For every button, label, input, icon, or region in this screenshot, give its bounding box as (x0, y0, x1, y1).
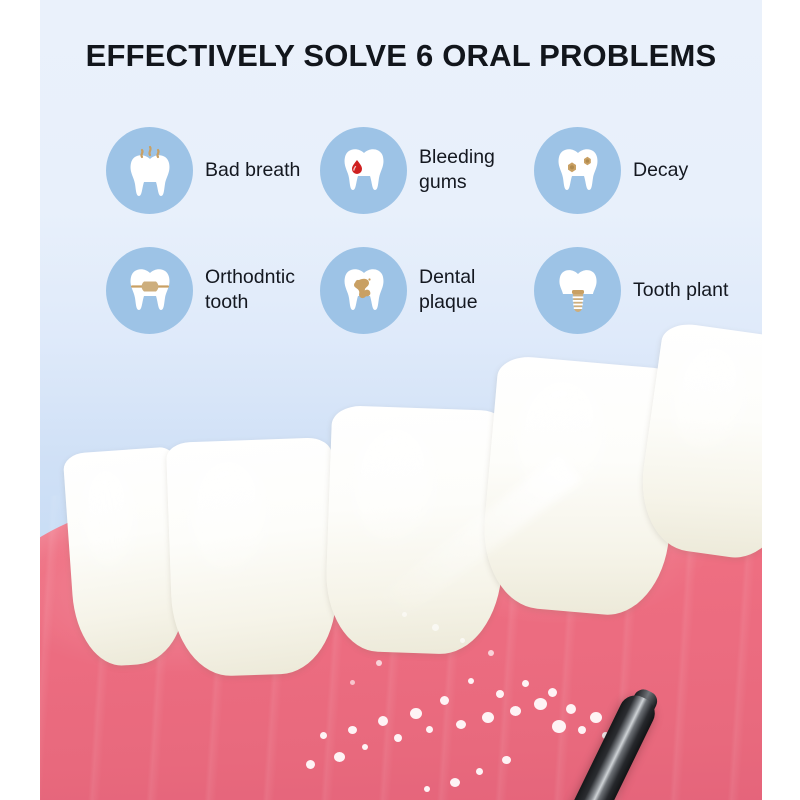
feature-label: Bleeding gums (419, 145, 531, 195)
water-flosser-teeth-gums-photo (40, 300, 762, 800)
feature-item-bad-breath: Bad breath (106, 110, 320, 230)
product-infographic: EFFECTIVELY SOLVE 6 ORAL PROBLEMS Bad br… (0, 0, 800, 800)
tooth-cavity-icon (534, 127, 621, 214)
page-title: EFFECTIVELY SOLVE 6 ORAL PROBLEMS (40, 38, 762, 74)
feature-item-decay: Decay (534, 110, 748, 230)
tooth-bad-breath-icon (106, 127, 193, 214)
feature-label: Tooth plant (633, 278, 728, 303)
poster-panel: EFFECTIVELY SOLVE 6 ORAL PROBLEMS Bad br… (40, 0, 762, 800)
feature-label: Bad breath (205, 158, 300, 183)
tooth-blood-drop-icon (320, 127, 407, 214)
feature-label: Decay (633, 158, 688, 183)
tooth (166, 437, 339, 678)
feature-item-bleeding-gums: Bleeding gums (320, 110, 534, 230)
